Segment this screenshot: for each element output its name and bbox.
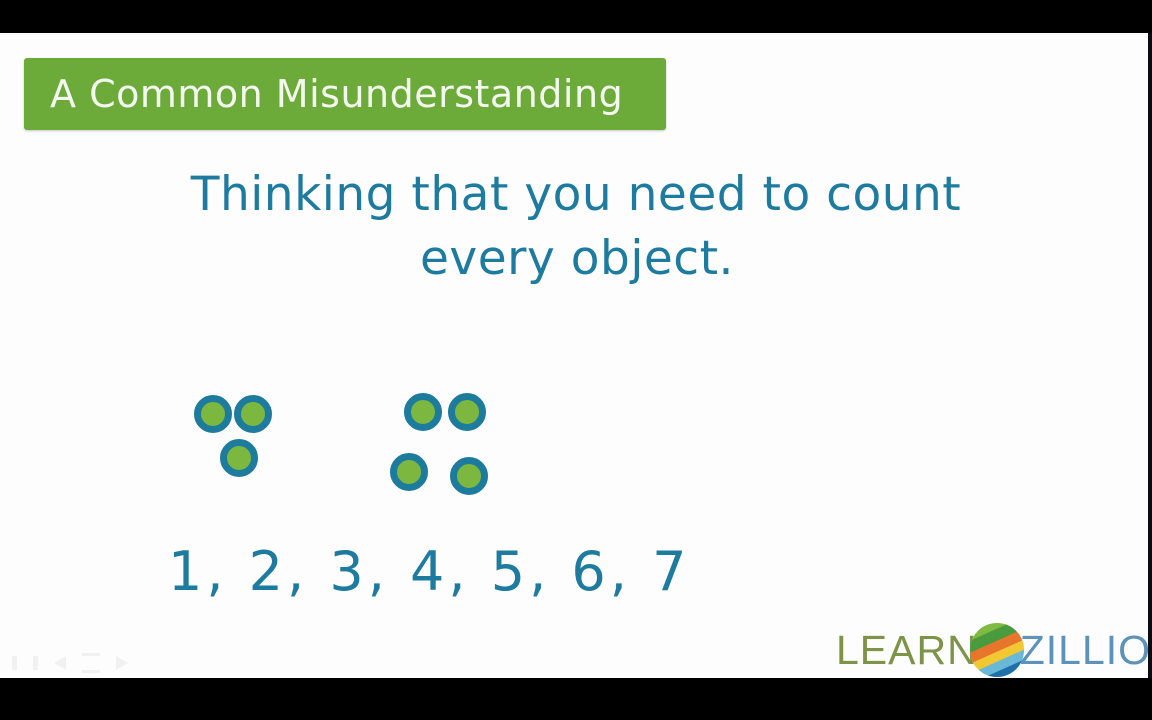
counter-dot bbox=[390, 453, 428, 491]
pause-button[interactable] bbox=[12, 656, 38, 670]
counter-dot bbox=[220, 439, 258, 477]
counter-dot bbox=[234, 395, 272, 433]
globe-icon bbox=[970, 623, 1024, 677]
letterbox-top bbox=[0, 0, 1152, 33]
previous-button[interactable] bbox=[54, 656, 66, 670]
counter-dot bbox=[404, 393, 442, 431]
title-banner: A Common Misunderstanding bbox=[24, 58, 666, 130]
edge-right bbox=[1148, 33, 1152, 678]
counter-dot bbox=[194, 395, 232, 433]
counter-dot bbox=[448, 393, 486, 431]
logo-word-learn: LEARN bbox=[836, 630, 978, 671]
player-controls[interactable] bbox=[12, 653, 128, 673]
letterbox-bottom bbox=[0, 678, 1152, 720]
menu-button[interactable] bbox=[82, 653, 100, 673]
slide-canvas: A Common Misunderstanding Thinking that … bbox=[0, 33, 1148, 678]
statement-line-2: every object. bbox=[0, 227, 1148, 291]
page-title: A Common Misunderstanding bbox=[50, 75, 623, 113]
statement-line-1: Thinking that you need to count bbox=[0, 163, 1148, 227]
next-button[interactable] bbox=[116, 656, 128, 670]
statement-text: Thinking that you need to count every ob… bbox=[0, 163, 1148, 291]
dot-group-right bbox=[370, 343, 550, 483]
logo-word-zillion: ZILLION bbox=[1020, 630, 1148, 671]
video-slide-viewer: A Common Misunderstanding Thinking that … bbox=[0, 0, 1152, 720]
count-sequence: 1, 2, 3, 4, 5, 6, 7 bbox=[168, 545, 690, 599]
counter-dot bbox=[450, 457, 488, 495]
learnzillion-logo: LEARN ZILLION bbox=[836, 621, 1148, 678]
dot-group-left bbox=[150, 343, 310, 473]
